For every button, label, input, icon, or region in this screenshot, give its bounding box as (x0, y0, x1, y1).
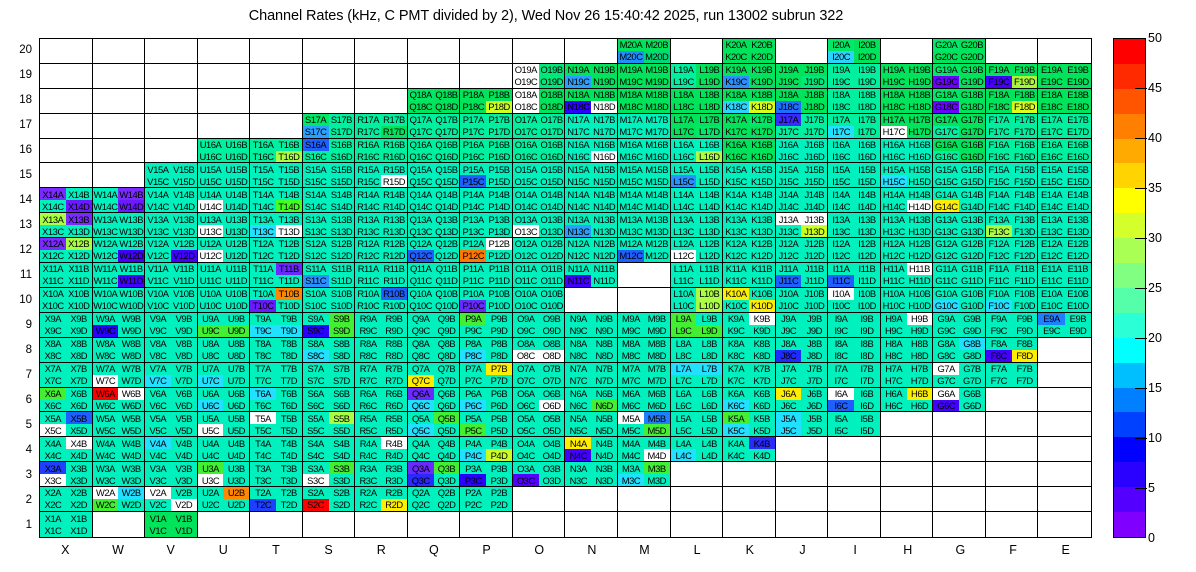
channel-cell: F14D (1012, 200, 1038, 212)
channel-cell: N19B (591, 64, 617, 76)
channel-cell: M15A (618, 163, 644, 175)
channel-cell: K10C (723, 300, 749, 312)
channel-cell: V8B (171, 338, 197, 350)
channel-cell: X3D (66, 474, 92, 486)
channel-cell: R15C (355, 175, 381, 187)
channel-cell: S16D (329, 151, 355, 163)
module-cell: G14AG14BG14CG14D (933, 188, 986, 213)
channel-cell: Q16C (408, 151, 434, 163)
channel-cell: Q11A (408, 263, 434, 275)
channel-cell: R16A (355, 139, 381, 151)
y-axis-tick: 15 (8, 169, 32, 181)
channel-cell: P5D (486, 424, 512, 436)
channel-cell: O15D (539, 175, 565, 187)
channel-cell: K14C (723, 200, 749, 212)
channel-cell: K8D (749, 350, 775, 362)
channel-cell: X2B (66, 487, 92, 499)
module-cell: M12AM12BM12CM12D (618, 238, 671, 263)
channel-cell: U9D (223, 325, 249, 337)
module-cell: V7AV7BV7CV7D (145, 363, 198, 388)
channel-cell: N3C (565, 474, 591, 486)
channel-cell: R12B (381, 238, 407, 250)
module-cell: F17AF17BF17CF17D (986, 114, 1039, 139)
channel-cell: U7D (223, 375, 249, 387)
channel-cell: O14A (513, 188, 539, 200)
channel-cell: L19A (671, 64, 697, 76)
y-axis-tick: 14 (8, 194, 32, 206)
channel-cell: Q13D (434, 225, 460, 237)
channel-cell: P17B (486, 114, 512, 126)
module-cell (565, 39, 618, 64)
channel-cell: O12D (539, 250, 565, 262)
channel-cell: M14D (644, 200, 670, 212)
channel-cell: G19A (933, 64, 959, 76)
channel-cell: W2C (93, 499, 119, 511)
channel-cell: Q16B (434, 139, 460, 151)
module-cell: N6AN6BN6CN6D (565, 388, 618, 413)
channel-cell: I10C (828, 300, 854, 312)
channel-cell: U7C (198, 375, 224, 387)
channel-cell: R17A (355, 114, 381, 126)
channel-cell: O16A (513, 139, 539, 151)
channel-cell: M9A (618, 313, 644, 325)
channel-cell: G6A (933, 388, 959, 400)
module-cell: W2AW2BW2CW2D (93, 487, 146, 512)
channel-cell: O4B (539, 437, 565, 449)
channel-cell: J9D (801, 325, 827, 337)
channel-cell: U4D (223, 449, 249, 461)
channel-cell: T10A (250, 288, 276, 300)
channel-cell: K8C (723, 350, 749, 362)
channel-cell: G7A (933, 363, 959, 375)
channel-cell: S16A (303, 139, 329, 151)
channel-cell: S8B (329, 338, 355, 350)
channel-cell: N13B (591, 213, 617, 225)
module-cell: L19AL19BL19CL19D (671, 64, 724, 89)
channel-cell: P9D (486, 325, 512, 337)
channel-cell: S11A (303, 263, 329, 275)
module-cell: O19AO19BO19CO19D (513, 64, 566, 89)
module-cell (460, 64, 513, 89)
module-cell: P13AP13BP13CP13D (460, 213, 513, 238)
module-cell (723, 512, 776, 537)
module-cell: T8AT8BT8CT8D (250, 338, 303, 363)
channel-cell: P5C (460, 424, 486, 436)
module-cell (776, 437, 829, 462)
module-cell (198, 114, 251, 139)
channel-cell: M16D (644, 151, 670, 163)
module-cell: V4AV4BV4CV4D (145, 437, 198, 462)
channel-cell: N16B (591, 139, 617, 151)
channel-cell: K16D (749, 151, 775, 163)
module-cell: H11AH11BH11CH11D (881, 263, 934, 288)
channel-cell: X2D (66, 499, 92, 511)
channel-cell: L5B (696, 412, 722, 424)
channel-cell: I14B (854, 188, 880, 200)
channel-cell: Q14C (408, 200, 434, 212)
channel-cell: H8A (881, 338, 907, 350)
channel-cell: I12A (828, 238, 854, 250)
channel-cell: M19A (618, 64, 644, 76)
channel-cell: F9C (986, 325, 1012, 337)
module-cell: O17AO17BO17CO17D (513, 114, 566, 139)
channel-cell: P4D (486, 449, 512, 461)
channel-cell: P18C (460, 101, 486, 113)
channel-cell: T13B (276, 213, 302, 225)
channel-cell: F15C (986, 175, 1012, 187)
channel-cell: X5D (66, 424, 92, 436)
channel-cell: S9A (303, 313, 329, 325)
channel-cell: S11D (329, 275, 355, 287)
module-cell: R16AR16BR16CR16D (355, 139, 408, 164)
channel-cell: J19A (776, 64, 802, 76)
channel-cell: O16C (513, 151, 539, 163)
channel-cell: O12A (513, 238, 539, 250)
channel-cell: Q18C (408, 101, 434, 113)
channel-cell: I11A (828, 263, 854, 275)
channel-cell: R9A (355, 313, 381, 325)
channel-cell: T4D (276, 449, 302, 461)
channel-cell: P11C (460, 275, 486, 287)
channel-cell: F17B (1012, 114, 1038, 126)
channel-cell: J11B (801, 263, 827, 275)
channel-cell: H7C (881, 375, 907, 387)
channel-cell: V1A (145, 512, 171, 524)
channel-cell: P16A (460, 139, 486, 151)
x-axis-tick: J (776, 543, 829, 557)
module-cell: M7AM7BM7CM7D (618, 363, 671, 388)
channel-cell: H11D (907, 275, 933, 287)
module-cell: H13AH13BH13CH13D (881, 213, 934, 238)
channel-cell: U4B (223, 437, 249, 449)
channel-cell: F7D (1012, 375, 1038, 387)
channel-cell: R2C (355, 499, 381, 511)
channel-cell: H13D (907, 225, 933, 237)
channel-cell: U15C (198, 175, 224, 187)
channel-cell: L10A (671, 288, 697, 300)
x-axis-tick: Q (408, 543, 461, 557)
channel-cell: S13C (303, 225, 329, 237)
channel-cell: U13C (198, 225, 224, 237)
channel-cell: X4D (66, 449, 92, 461)
channel-cell: P14A (460, 188, 486, 200)
channel-cell: Q3B (434, 462, 460, 474)
channel-cell: K4B (749, 437, 775, 449)
channel-cell: N18D (591, 101, 617, 113)
channel-cell: X9A (40, 313, 66, 325)
channel-cell: T3A (250, 462, 276, 474)
channel-cell: V8C (145, 350, 171, 362)
channel-cell: T16C (250, 151, 276, 163)
channel-cell: I9A (828, 313, 854, 325)
module-cell: L18AL18BL18CL18D (671, 89, 724, 114)
channel-cell: O9C (513, 325, 539, 337)
channel-cell: I12C (828, 250, 854, 262)
module-cell: M9AM9BM9CM9D (618, 313, 671, 338)
channel-cell: O11D (539, 275, 565, 287)
channel-cell: O7D (539, 375, 565, 387)
channel-cell: F14C (986, 200, 1012, 212)
channel-cell: E12A (1038, 238, 1064, 250)
channel-cell: K19A (723, 64, 749, 76)
y-axis-tick: 18 (8, 94, 32, 106)
channel-cell: T14D (276, 200, 302, 212)
module-cell: F14AF14BF14CF14D (986, 188, 1039, 213)
channel-cell: V5A (145, 412, 171, 424)
module-cell: R4AR4BR4CR4D (355, 437, 408, 462)
channel-cell: X3B (66, 462, 92, 474)
channel-cell: O10A (513, 288, 539, 300)
channel-cell: P14D (486, 200, 512, 212)
channel-cell: N11B (591, 263, 617, 275)
channel-cell: J7B (801, 363, 827, 375)
colorbar-tick-mark (1135, 338, 1147, 339)
module-cell (93, 39, 146, 64)
channel-cell: L8B (696, 338, 722, 350)
channel-cell: K5B (749, 412, 775, 424)
channel-cell: G15D (959, 175, 985, 187)
module-cell: N13AN13BN13CN13D (565, 213, 618, 238)
channel-cell: S9C (303, 325, 329, 337)
channel-cell: L4B (696, 437, 722, 449)
channel-cell: T11A (250, 263, 276, 275)
module-cell: J15AJ15BJ15CJ15D (776, 163, 829, 188)
channel-cell: P4C (460, 449, 486, 461)
channel-cell: H10D (907, 300, 933, 312)
module-cell: R8AR8BR8CR8D (355, 338, 408, 363)
channel-cell: Q12D (434, 250, 460, 262)
channel-cell: T7B (276, 363, 302, 375)
module-cell: L9AL9BL9CL9D (671, 313, 724, 338)
channel-cell: N17D (591, 126, 617, 138)
colorbar-tick-label: 50 (1148, 31, 1162, 45)
channel-cell: L4C (671, 449, 697, 461)
channel-cell: K15C (723, 175, 749, 187)
channel-cell: I15B (854, 163, 880, 175)
channel-cell: R5B (381, 412, 407, 424)
channel-cell: T12D (276, 250, 302, 262)
channel-cell: P8C (460, 350, 486, 362)
channel-cell: W7A (93, 363, 119, 375)
channel-cell: I14D (854, 200, 880, 212)
x-axis-tick: I (829, 543, 882, 557)
channel-cell: W5A (93, 412, 119, 424)
channel-cell: L17D (696, 126, 722, 138)
module-cell: I15AI15BI15CI15D (828, 163, 881, 188)
channel-cell: V1B (171, 512, 197, 524)
channel-cell: U9C (198, 325, 224, 337)
channel-cell: M6D (644, 400, 670, 412)
channel-cell: M12B (644, 238, 670, 250)
channel-cell: R4B (381, 437, 407, 449)
module-cell: R5AR5BR5CR5D (355, 412, 408, 437)
channel-cell: L15A (671, 163, 697, 175)
channel-cell: E19A (1038, 64, 1064, 76)
channel-cell: X13A (40, 213, 66, 225)
channel-cell: X3A (40, 462, 66, 474)
channel-cell: W4B (118, 437, 144, 449)
channel-cell: Q4A (408, 437, 434, 449)
channel-cell: W4D (118, 449, 144, 461)
channel-cell: M8B (644, 338, 670, 350)
channel-cell: T9A (250, 313, 276, 325)
module-cell: R9AR9BR9CR9D (355, 313, 408, 338)
channel-cell: U15D (223, 175, 249, 187)
channel-cell: W10A (93, 288, 119, 300)
module-cell: Q6AQ6BQ6CQ6D (408, 388, 461, 413)
channel-cell: H19D (907, 76, 933, 88)
channel-cell: W7B (118, 363, 144, 375)
channel-cell: M14A (618, 188, 644, 200)
channel-cell: T14C (250, 200, 276, 212)
module-cell (933, 412, 986, 437)
channel-cell: L15D (696, 175, 722, 187)
channel-cell: P12D (486, 250, 512, 262)
channel-cell: G13B (959, 213, 985, 225)
module-cell: U14AU14BU14CU14D (198, 188, 251, 213)
module-cell: K16AK16BK16CK16D (723, 139, 776, 164)
channel-cell: J16B (801, 139, 827, 151)
channel-cell: V7B (171, 363, 197, 375)
channel-cell: T14B (276, 188, 302, 200)
module-cell: G6AG6BG6CG6D (933, 388, 986, 413)
channel-cell: M9B (644, 313, 670, 325)
channel-cell: K7B (749, 363, 775, 375)
channel-cell: P13C (460, 225, 486, 237)
module-cell: Q3AQ3BQ3CQ3D (408, 462, 461, 487)
channel-cell: E18D (1065, 101, 1091, 113)
channel-cell: E19B (1065, 64, 1091, 76)
channel-cell: N8D (591, 350, 617, 362)
x-axis-tick: L (671, 543, 724, 557)
channel-cell: M17A (618, 114, 644, 126)
channel-cell: X4B (66, 437, 92, 449)
channel-cell: J7A (776, 363, 802, 375)
channel-cell: G7B (959, 363, 985, 375)
module-cell: M8AM8BM8CM8D (618, 338, 671, 363)
module-cell (355, 39, 408, 64)
channel-cell: U5A (198, 412, 224, 424)
channel-cell: G12B (959, 238, 985, 250)
channel-cell: O14D (539, 200, 565, 212)
module-cell: U9AU9BU9CU9D (198, 313, 251, 338)
module-cell: L15AL15BL15CL15D (671, 163, 724, 188)
channel-cell: I8D (854, 350, 880, 362)
module-cell: E10AE10BE10CE10D (1038, 288, 1091, 313)
channel-cell: T5D (276, 424, 302, 436)
channel-cell: V15B (171, 163, 197, 175)
channel-cell: T2A (250, 487, 276, 499)
y-axis-tick: 1 (8, 519, 32, 531)
channel-cell: U9A (198, 313, 224, 325)
module-cell (250, 89, 303, 114)
channel-cell: K18D (749, 101, 775, 113)
channel-cell: U8D (223, 350, 249, 362)
module-cell (986, 39, 1039, 64)
channel-cell: U11B (223, 263, 249, 275)
channel-cell: Q6D (434, 400, 460, 412)
channel-cell: M5A (618, 412, 644, 424)
channel-cell: E16B (1065, 139, 1091, 151)
channel-cell: I17C (828, 126, 854, 138)
channel-cell: O8B (539, 338, 565, 350)
channel-cell: J17B (801, 114, 827, 126)
channel-cell: U3C (198, 474, 224, 486)
channel-cell: U10C (198, 300, 224, 312)
colorbar-tick-label: 45 (1148, 81, 1162, 95)
channel-cell: S17C (303, 126, 329, 138)
module-cell (40, 114, 93, 139)
channel-cell: M16B (644, 139, 670, 151)
channel-cell: S6A (303, 388, 329, 400)
channel-cell: V14B (171, 188, 197, 200)
channel-cell: L19D (696, 76, 722, 88)
channel-cell: I6B (854, 388, 880, 400)
channel-cell: V11B (171, 263, 197, 275)
channel-cell: J12D (801, 250, 827, 262)
channel-cell: U6B (223, 388, 249, 400)
module-cell: K8AK8BK8CK8D (723, 338, 776, 363)
channel-cell: F16A (986, 139, 1012, 151)
channel-cell: V7A (145, 363, 171, 375)
channel-cell: N12C (565, 250, 591, 262)
channel-cell: O11B (539, 263, 565, 275)
channel-cell: O14B (539, 188, 565, 200)
channel-cell: P14C (460, 200, 486, 212)
channel-cell: F12A (986, 238, 1012, 250)
channel-cell: X6A (40, 388, 66, 400)
channel-cell: O5C (513, 424, 539, 436)
module-cell: P6AP6BP6CP6D (460, 388, 513, 413)
channel-cell: W10D (118, 300, 144, 312)
channel-cell: I20B (854, 39, 880, 51)
channel-cell: R7D (381, 375, 407, 387)
channel-cell: Q12B (434, 238, 460, 250)
channel-cell: V7C (145, 375, 171, 387)
channel-cell: P14B (486, 188, 512, 200)
channel-cell: O8A (513, 338, 539, 350)
channel-cell: J12C (776, 250, 802, 262)
channel-cell: H10A (881, 288, 907, 300)
channel-cell: J14C (776, 200, 802, 212)
module-cell: T16AT16BT16CT16D (250, 139, 303, 164)
module-cell: V3AV3BV3CV3D (145, 462, 198, 487)
channel-cell: X4A (40, 437, 66, 449)
channel-cell: P6A (460, 388, 486, 400)
channel-cell: R9C (355, 325, 381, 337)
channel-cell: H13B (907, 213, 933, 225)
module-cell: O7AO7BO7CO7D (513, 363, 566, 388)
channel-cell: O13D (539, 225, 565, 237)
channel-cell: E11B (1065, 263, 1091, 275)
y-axis-tick: 5 (8, 419, 32, 431)
channel-cell: K4A (723, 437, 749, 449)
channel-cell: T5A (250, 412, 276, 424)
channel-cell: L19C (671, 76, 697, 88)
channel-cell: N7D (591, 375, 617, 387)
module-cell: W11AW11BW11CW11D (93, 263, 146, 288)
channel-cell: K9D (749, 325, 775, 337)
channel-cell: L16C (671, 151, 697, 163)
module-cell: G8AG8BG8CG8D (933, 338, 986, 363)
module-cell: S4AS4BS4CS4D (303, 437, 356, 462)
channel-cell: H17C (881, 126, 907, 138)
channel-cell: H6D (907, 400, 933, 412)
channel-cell: Q15A (408, 163, 434, 175)
module-cell: R13AR13BR13CR13D (355, 213, 408, 238)
module-cell: V15AV15BV15CV15D (145, 163, 198, 188)
module-cell (986, 487, 1039, 512)
